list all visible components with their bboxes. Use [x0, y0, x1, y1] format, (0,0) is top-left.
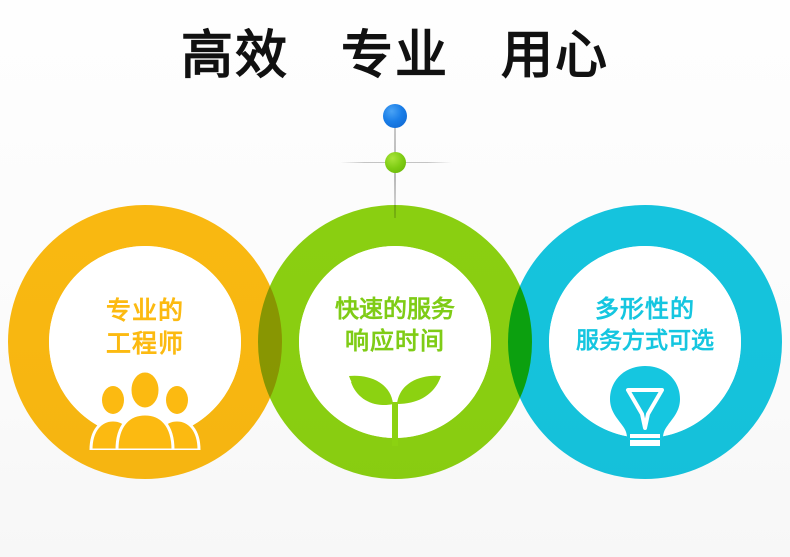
lightbulb-icon	[547, 364, 743, 450]
card-response-time-text: 快速的服务 响应时间	[297, 244, 493, 357]
card-response-time-line1: 快速的服务	[297, 294, 493, 326]
card-engineers-line1: 专业的	[47, 294, 243, 327]
headline-word-1: 高效	[181, 24, 289, 88]
card-service-modes-line2: 服务方式可选	[547, 326, 743, 356]
headline-word-2: 专业	[341, 24, 449, 88]
page-title: 高效专业用心	[0, 24, 790, 88]
card-response-time[interactable]: 快速的服务 响应时间	[297, 244, 493, 444]
card-engineers-text: 专业的 工程师	[47, 244, 243, 360]
card-engineers[interactable]: 专业的 工程师	[47, 244, 243, 444]
sprout-icon	[297, 364, 493, 450]
card-response-time-line2: 响应时间	[297, 326, 493, 358]
card-service-modes[interactable]: 多形性的 服务方式可选	[547, 244, 743, 444]
poster-canvas: 高效专业用心 专业的 工程师	[0, 0, 790, 557]
headline-word-3: 用心	[501, 24, 609, 88]
people-icon	[47, 364, 243, 450]
blue-dot-marker-icon	[383, 104, 407, 128]
card-service-modes-line1: 多形性的	[547, 294, 743, 326]
green-dot-marker-icon	[385, 152, 406, 173]
card-service-modes-text: 多形性的 服务方式可选	[547, 244, 743, 356]
card-engineers-line2: 工程师	[47, 327, 243, 360]
